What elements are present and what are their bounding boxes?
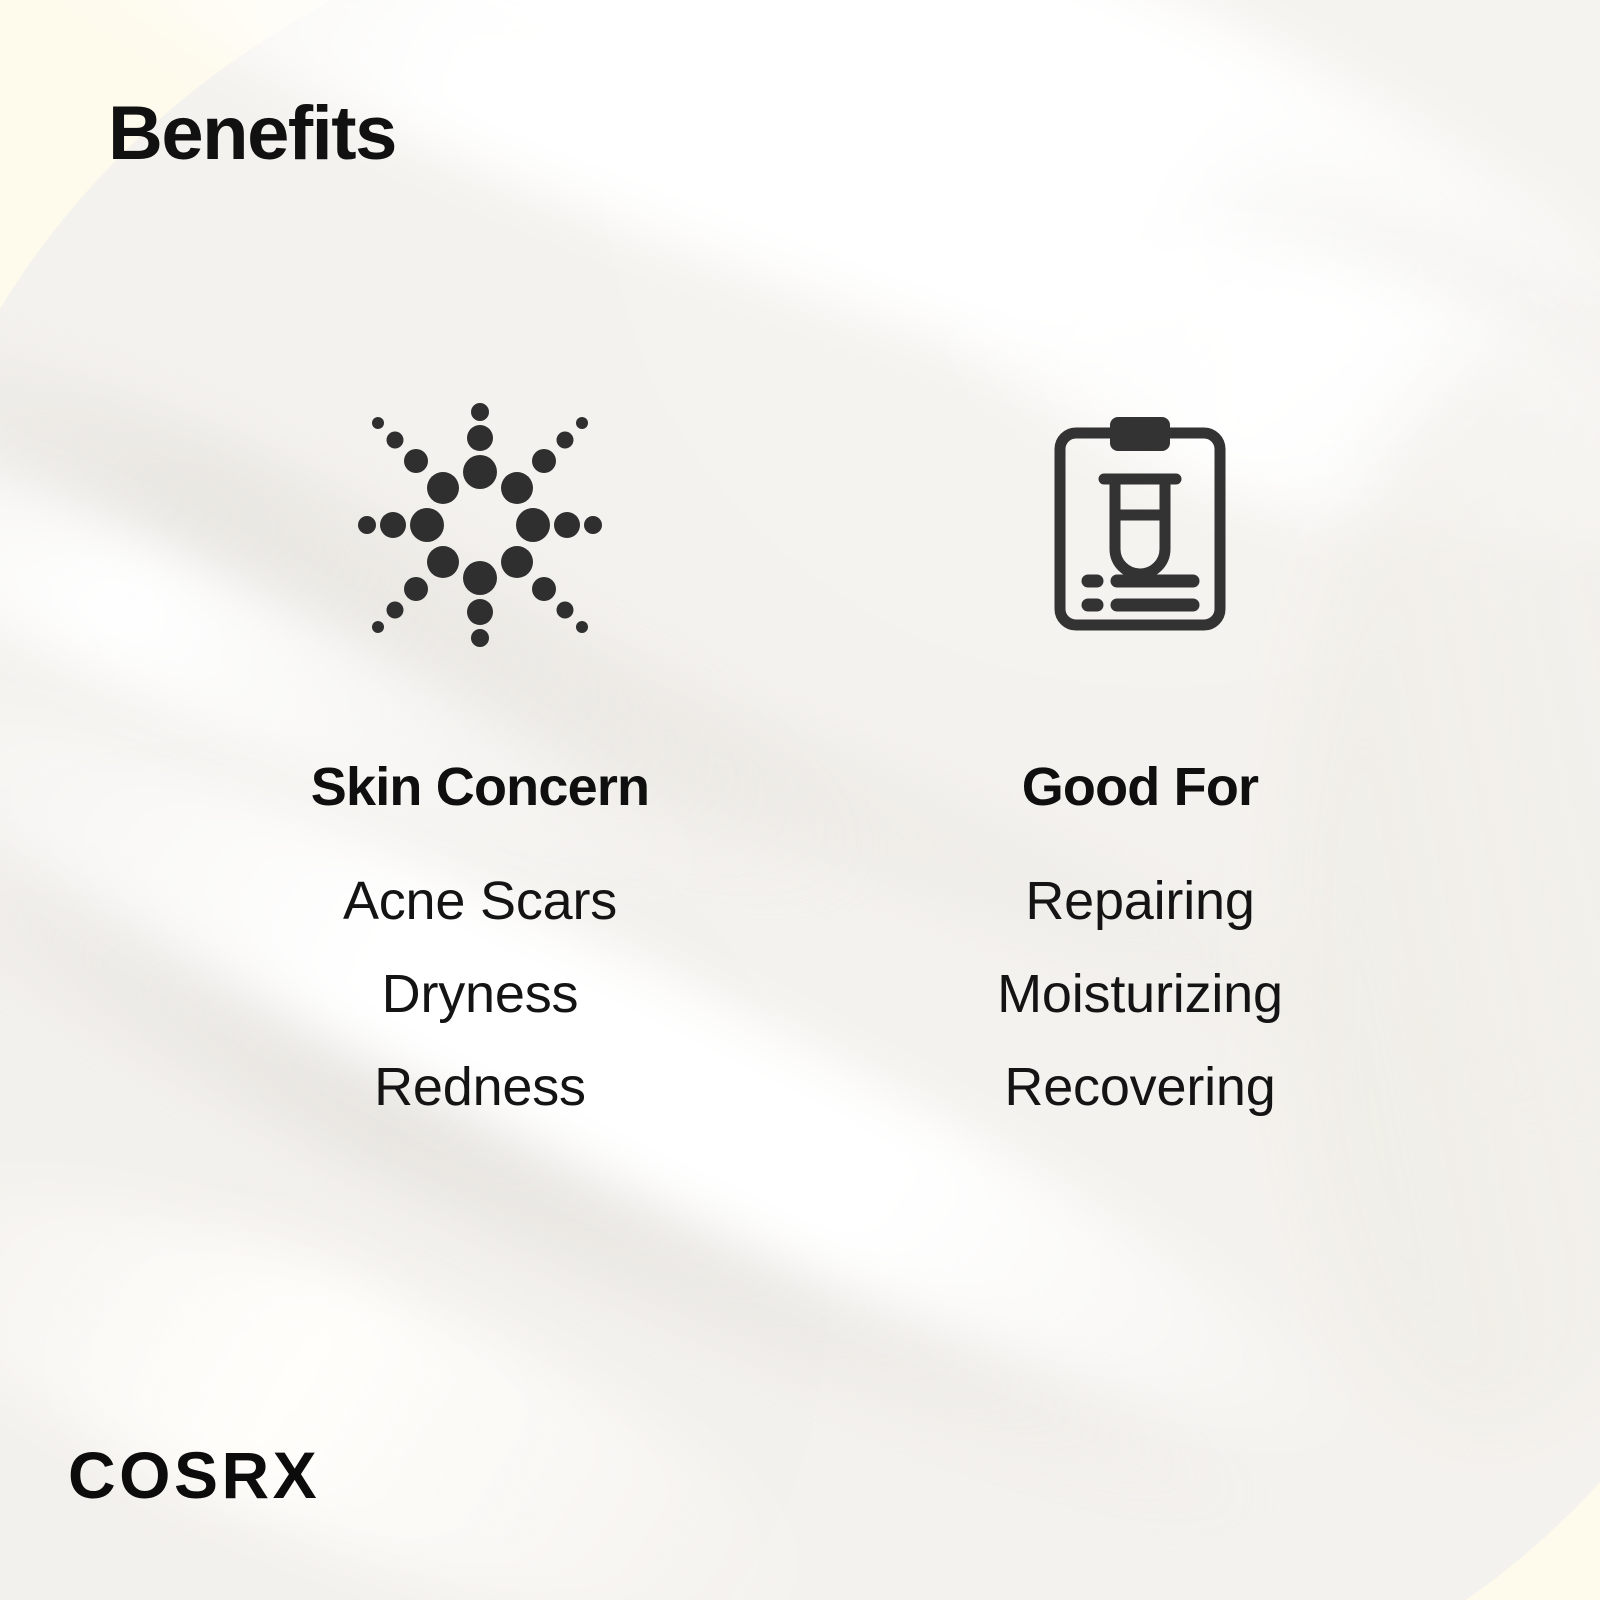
benefit-column-skin-concern: Skin Concern Acne Scars Dryness Redness [100,400,860,1134]
list-item: Recovering [860,1041,1420,1134]
clipboard-test-tube-icon [860,400,1420,650]
list-item: Redness [100,1041,860,1134]
benefits-infographic: Benefits [0,0,1600,1600]
brand-logo: COSRX [68,1442,320,1508]
list-item: Acne Scars [100,855,860,948]
page-title: Benefits [108,96,396,172]
benefit-column-good-for: Good For Repairing Moisturizing Recoveri… [860,400,1420,1134]
list-item: Moisturizing [860,948,1420,1041]
benefit-columns: Skin Concern Acne Scars Dryness Redness [0,400,1600,1134]
list-item: Dryness [100,948,860,1041]
list-item: Repairing [860,855,1420,948]
column-heading: Skin Concern [100,758,860,817]
column-list: Repairing Moisturizing Recovering [860,855,1420,1134]
column-list: Acne Scars Dryness Redness [100,855,860,1134]
starburst-dots-icon [100,400,860,650]
column-heading: Good For [860,758,1420,817]
